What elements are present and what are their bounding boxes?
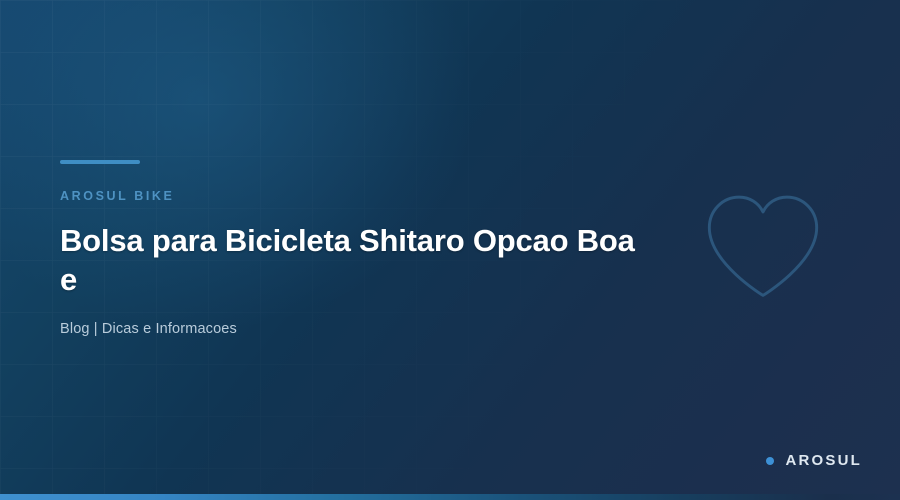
accent-bar [60, 160, 140, 164]
page-subtitle: Blog | Dicas e Informacoes [60, 322, 660, 337]
heart-icon [702, 188, 824, 310]
brand-name-label: AROSUL [785, 453, 862, 468]
eyebrow-label: AROSUL BIKE [60, 190, 660, 203]
social-share-banner: AROSUL BIKE Bolsa para Bicicleta Shitaro… [0, 0, 900, 500]
page-title: Bolsa para Bicicleta Shitaro Opcao Boa e [60, 221, 640, 301]
bottom-accent-strip [0, 494, 900, 500]
brand-mark: AROSUL [766, 453, 862, 468]
dot-icon [766, 457, 774, 465]
banner-content: AROSUL BIKE Bolsa para Bicicleta Shitaro… [60, 160, 660, 337]
